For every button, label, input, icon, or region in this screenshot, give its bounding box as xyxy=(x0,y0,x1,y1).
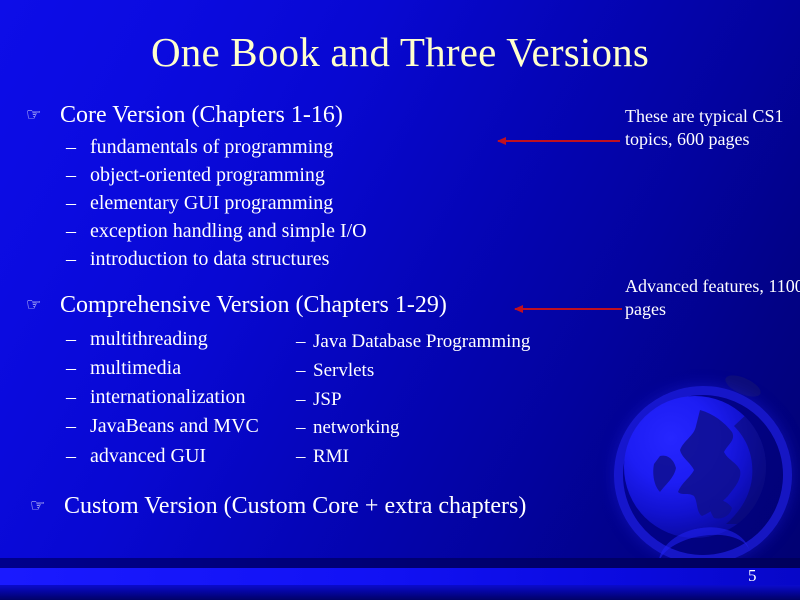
slide-canvas: One Book and Three Versions ☞Core Versio… xyxy=(0,0,800,600)
globe-sphere xyxy=(624,396,766,538)
pointing-hand-icon: ☞ xyxy=(26,101,60,129)
sub-item-core-4-label: introduction to data structures xyxy=(90,248,329,270)
sub-item-comp-right-4-label: RMI xyxy=(313,446,349,467)
sub-item-comp-right-1-label: Servlets xyxy=(313,360,374,381)
connector-arrow-comprehensive xyxy=(515,308,622,310)
footer-band-lower xyxy=(0,585,800,600)
sub-item-comp-right-1: –Servlets xyxy=(296,357,374,385)
sub-item-core-1-label: object-oriented programming xyxy=(90,164,325,186)
sub-item-core-0-label: fundamentals of programming xyxy=(90,136,333,158)
dash-icon: – xyxy=(66,326,90,352)
arrowhead-icon xyxy=(497,137,506,145)
dash-icon: – xyxy=(296,386,313,414)
sub-item-comp-right-3-label: networking xyxy=(313,417,400,438)
pointing-hand-icon: ☞ xyxy=(26,291,60,319)
sub-item-comp-left-2-label: internationalization xyxy=(90,386,246,408)
globe-landmass xyxy=(624,396,766,538)
sub-item-comp-right-3: –networking xyxy=(296,414,400,442)
sub-item-comp-left-2: –internationalization xyxy=(66,384,246,410)
dash-icon: – xyxy=(66,384,90,410)
dash-icon: – xyxy=(66,134,90,160)
connector-arrow-core xyxy=(498,140,620,142)
sub-item-comp-left-0-label: multithreading xyxy=(90,328,208,350)
dash-icon: – xyxy=(296,414,313,442)
page-title: One Book and Three Versions xyxy=(0,27,800,77)
sub-item-core-2: –elementary GUI programming xyxy=(66,190,333,216)
annotation-core: These are typical CS1 topics, 600 pages xyxy=(625,105,800,151)
dash-icon: – xyxy=(66,190,90,216)
page-number: 5 xyxy=(748,566,757,586)
sub-item-comp-right-4: –RMI xyxy=(296,443,349,471)
dash-icon: – xyxy=(66,443,90,469)
sub-item-comp-right-0: –Java Database Programming xyxy=(296,328,530,356)
sub-item-comp-left-0: –multithreading xyxy=(66,326,208,352)
sub-item-comp-left-3: –JavaBeans and MVC xyxy=(66,413,259,439)
globe-axis xyxy=(722,371,763,401)
sub-item-core-4: –introduction to data structures xyxy=(66,246,329,272)
dash-icon: – xyxy=(296,328,313,356)
sub-item-core-1: –object-oriented programming xyxy=(66,162,325,188)
bullet-comprehensive-version: ☞Comprehensive Version (Chapters 1-29) xyxy=(26,291,447,319)
bullet-custom-version: ☞Custom Version (Custom Core + extra cha… xyxy=(30,492,526,520)
sub-item-comp-left-4: –advanced GUI xyxy=(66,443,206,469)
globe-icon xyxy=(606,378,796,578)
bullet-comprehensive-version-label: Comprehensive Version (Chapters 1-29) xyxy=(60,292,447,318)
sub-item-comp-left-1-label: multimedia xyxy=(90,357,181,379)
dash-icon: – xyxy=(66,246,90,272)
sub-item-core-3: –exception handling and simple I/O xyxy=(66,218,367,244)
sub-item-core-0: –fundamentals of programming xyxy=(66,134,333,160)
dash-icon: – xyxy=(66,162,90,188)
sub-item-core-3-label: exception handling and simple I/O xyxy=(90,220,367,242)
footer-band-highlight xyxy=(0,568,800,585)
dash-icon: – xyxy=(66,413,90,439)
sub-item-comp-right-2: –JSP xyxy=(296,386,342,414)
bullet-custom-version-label: Custom Version (Custom Core + extra chap… xyxy=(64,493,526,519)
dash-icon: – xyxy=(66,355,90,381)
sub-item-core-2-label: elementary GUI programming xyxy=(90,192,333,214)
sub-item-comp-left-3-label: JavaBeans and MVC xyxy=(90,415,259,437)
bullet-core-version-label: Core Version (Chapters 1-16) xyxy=(60,102,343,128)
sub-item-comp-right-0-label: Java Database Programming xyxy=(313,331,530,352)
bullet-core-version: ☞Core Version (Chapters 1-16) xyxy=(26,101,343,129)
arrowhead-icon xyxy=(514,305,523,313)
sub-item-comp-right-2-label: JSP xyxy=(313,389,342,410)
dash-icon: – xyxy=(66,218,90,244)
sub-item-comp-left-4-label: advanced GUI xyxy=(90,445,206,467)
dash-icon: – xyxy=(296,443,313,471)
dash-icon: – xyxy=(296,357,313,385)
sub-item-comp-left-1: –multimedia xyxy=(66,355,181,381)
pointing-hand-icon: ☞ xyxy=(30,492,64,520)
annotation-comprehensive: Advanced features, 1100 pages xyxy=(625,275,800,321)
footer-band-upper xyxy=(0,558,800,568)
globe-ring xyxy=(593,365,800,585)
